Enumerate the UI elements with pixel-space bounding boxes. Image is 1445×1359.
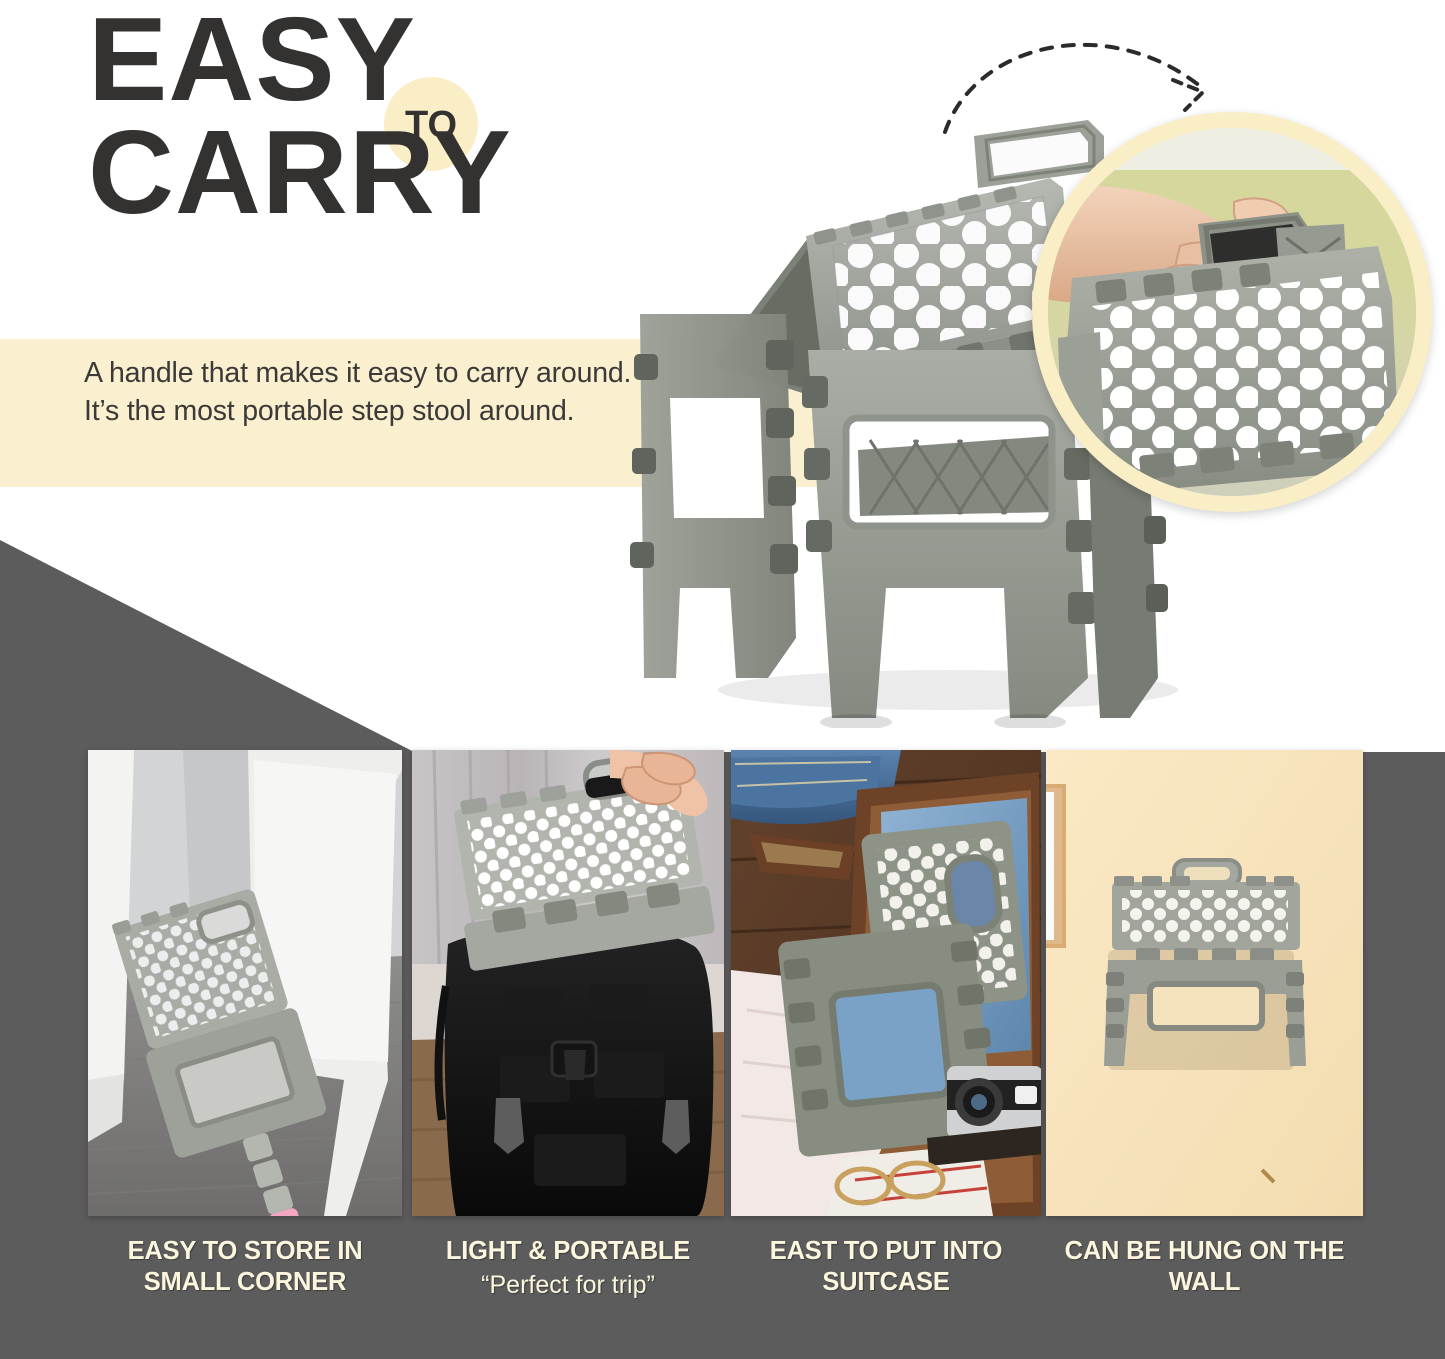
feature-title-3: EAST TO PUT INTO SUITCASE (770, 1237, 1002, 1296)
feature-image-3 (731, 750, 1041, 1216)
feature-title-2: LIGHT & PORTABLE (446, 1237, 690, 1265)
handle-closeup-inset (1032, 112, 1432, 512)
feature-subtitle-2: “Perfect for trip” (412, 1270, 724, 1300)
feature-image-1 (88, 750, 402, 1216)
handle-closeup-photo (1048, 128, 1416, 496)
headline-badge-text: TO (390, 85, 472, 165)
feature-caption-4: CAN BE HUNG ON THE WALL (1046, 1236, 1363, 1297)
feature-title-1: EASY TO STORE IN SMALL CORNER (128, 1237, 363, 1296)
infographic-page: EASY CARRY TO A handle that makes it eas… (0, 0, 1445, 1359)
hero-description: A handle that makes it easy to carry aro… (84, 355, 664, 431)
feature-caption-1: EASY TO STORE IN SMALL CORNER (88, 1236, 402, 1297)
hero-section: EASY CARRY TO A handle that makes it eas… (0, 0, 1445, 752)
feature-caption-2: LIGHT & PORTABLE “Perfect for trip” (412, 1236, 724, 1300)
feature-caption-3: EAST TO PUT INTO SUITCASE (731, 1236, 1041, 1297)
feature-image-4 (1046, 750, 1363, 1216)
feature-image-2 (412, 750, 724, 1216)
dark-diagonal-wedge (0, 540, 420, 752)
feature-title-4: CAN BE HUNG ON THE WALL (1065, 1237, 1345, 1296)
